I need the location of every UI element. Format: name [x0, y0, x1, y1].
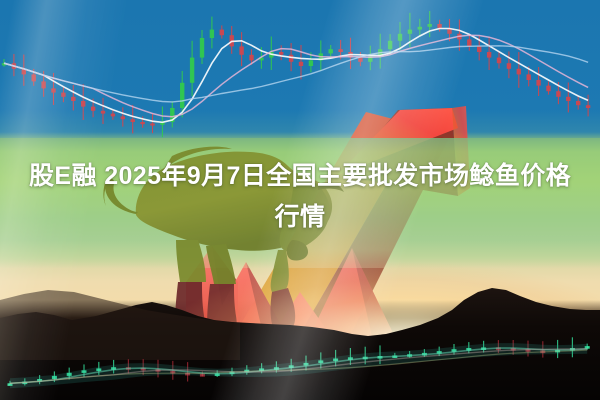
- banner-image: 股E融 2025年9月7日全国主要批发市场鲶鱼价格行情: [0, 0, 600, 400]
- headline-block: 股E融 2025年9月7日全国主要批发市场鲶鱼价格行情: [0, 156, 600, 238]
- headline-text: 股E融 2025年9月7日全国主要批发市场鲶鱼价格行情: [18, 156, 582, 238]
